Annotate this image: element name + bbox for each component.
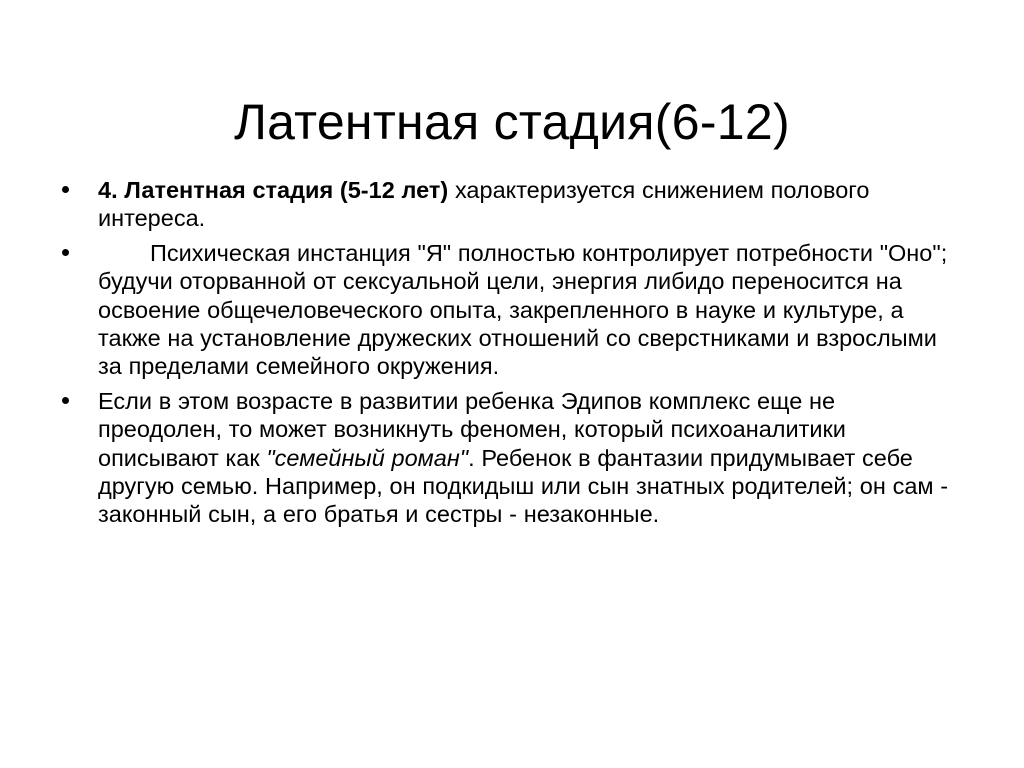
bullet-text: Если в этом возрасте в развитии ребенка … (98, 387, 964, 529)
bullet-dot-icon (62, 249, 69, 256)
bullet-dot-icon (62, 186, 69, 193)
slide-body: 4. Латентная стадия (5-12 лет) характери… (52, 176, 964, 529)
presentation-slide: Латентная стадия(6-12) 4. Латентная стад… (0, 0, 1024, 768)
bullet-run-bold: 4. Латентная стадия (5-12 лет) (98, 177, 448, 203)
slide-title: Латентная стадия(6-12) (0, 96, 1024, 149)
bullet-dot-icon (62, 397, 69, 404)
bullet-text: 4. Латентная стадия (5-12 лет) характери… (98, 176, 964, 233)
bullet-text: Психическая инстанция "Я" полностью конт… (98, 239, 964, 381)
bullet-run-italic: "семейный роман" (266, 445, 468, 471)
bullet-item: Психическая инстанция "Я" полностью конт… (52, 239, 964, 381)
bullet-item: 4. Латентная стадия (5-12 лет) характери… (52, 176, 964, 233)
bullet-run-normal: Психическая инстанция "Я" полностью конт… (98, 240, 947, 380)
bullet-item: Если в этом возрасте в развитии ребенка … (52, 387, 964, 529)
